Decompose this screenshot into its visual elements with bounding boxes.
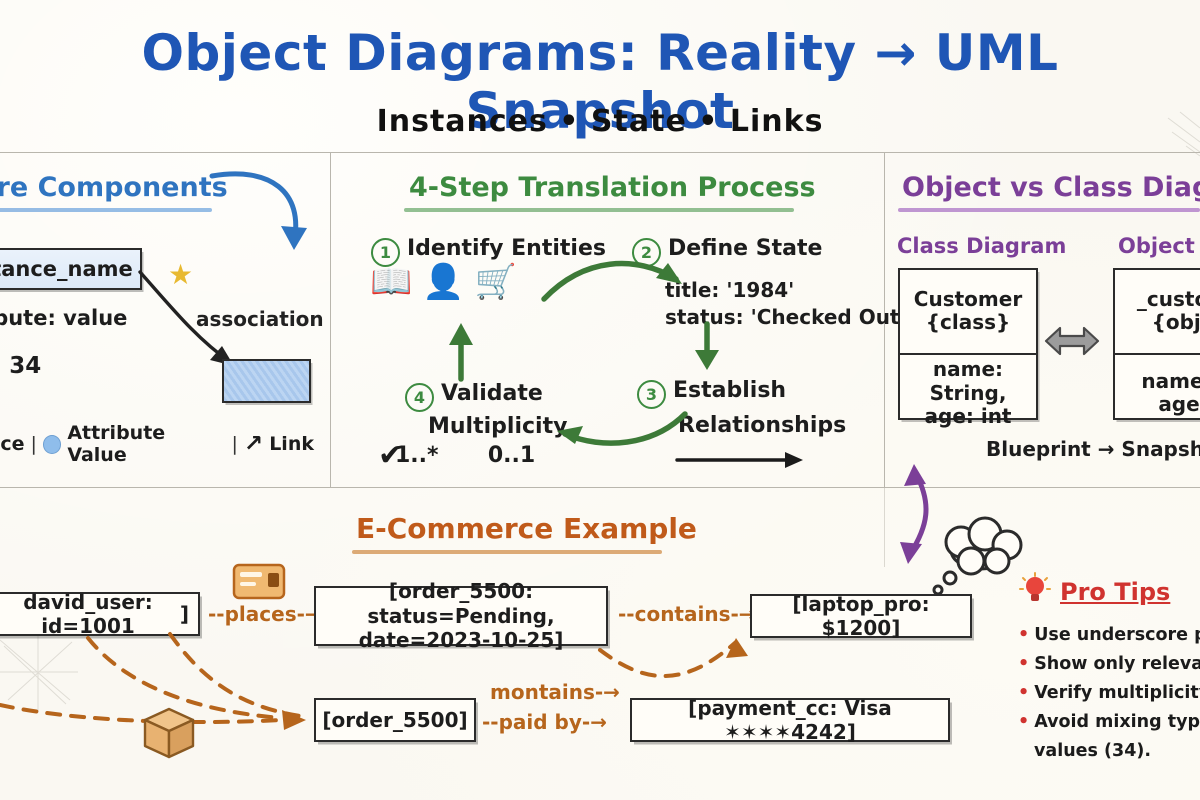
step-4: 4Validate: [405, 381, 543, 412]
linked-object-box: [222, 359, 311, 403]
step-4-number: 4: [405, 383, 434, 412]
process-title: 4-Step Translation Process: [409, 172, 816, 203]
class-box-stereotype: {class}: [926, 311, 1011, 335]
legend: ance | Attribute Value | ↗ Link: [0, 422, 314, 466]
attribute-value-dot-icon: [43, 435, 61, 454]
object-box-stereotype: {obje: [1152, 311, 1200, 335]
legend-link-label: Link: [269, 433, 314, 455]
object-box-name: _custom: [1137, 288, 1200, 312]
compare-underline: [898, 208, 1200, 212]
pro-tips-title: Pro Tips: [1060, 578, 1170, 606]
divider-top: [0, 152, 1200, 153]
class-diagram-heading: Class Diagram: [897, 234, 1066, 258]
object-box-attr-1: name: ': [1141, 370, 1200, 394]
link-arrow-icon: ↗: [244, 431, 263, 457]
legend-separator-1: |: [31, 433, 37, 455]
instance-name-box: tance_name: [0, 248, 142, 290]
blue-curved-arrow-icon: [208, 168, 318, 278]
class-diagram-box: Customer {class} name: String, age: int: [898, 268, 1038, 420]
class-box-attributes: name: String, age: int: [900, 355, 1036, 432]
divider-bottom-right: [884, 487, 885, 567]
shopping-cart-icon: 🛒: [475, 262, 527, 302]
object-box-attributes: name: ' age:: [1115, 355, 1200, 432]
core-components-title: ore Components: [0, 172, 228, 203]
age-line: : 34: [0, 353, 41, 379]
divider-left: [330, 152, 331, 487]
class-box-attr-2: age: int: [925, 405, 1012, 429]
credit-card-icon: [232, 562, 288, 602]
object-box-header: _custom {obje: [1115, 270, 1200, 355]
multiplicity-1: 1..*: [395, 443, 439, 468]
object-box-attr-2: age:: [1158, 393, 1200, 417]
process-underline: [404, 208, 794, 212]
lightbulb-icon: [1018, 572, 1052, 606]
blueprint-snapshot-label: Blueprint → Snapshot: [986, 437, 1200, 461]
legend-separator-2: |: [232, 433, 238, 455]
legend-attribute-value-label: Attribute Value: [67, 422, 225, 466]
core-components-underline: [0, 208, 212, 212]
object-diagram-heading: Object D: [1118, 234, 1200, 258]
pro-tip-4-cont: values (34).: [1034, 741, 1151, 761]
legend-instance-label: ance: [0, 433, 25, 455]
multiplicity-row: 1..* 0..1: [395, 443, 535, 468]
divider-middle: [0, 487, 1200, 488]
process-arrow-1-to-2-icon: [540, 255, 700, 315]
open-book-icon: 📖: [370, 262, 422, 302]
multiplicity-2: 0..1: [488, 443, 535, 468]
class-box-name: Customer: [914, 288, 1022, 312]
double-arrow-icon: [1044, 320, 1104, 366]
package-box-icon: [142, 706, 198, 762]
attribute-value-line: ibute: value: [0, 306, 127, 330]
person-icon: 👤: [422, 262, 474, 302]
class-box-attr-1: name: String,: [904, 358, 1032, 405]
class-box-header: Customer {class}: [900, 270, 1036, 355]
entity-icons-row: 📖👤🛒: [370, 262, 527, 302]
process-arrow-4-to-1-icon: [440, 315, 486, 385]
object-diagram-box: _custom {obje name: ' age:: [1113, 268, 1200, 420]
page-subtitle: Instances • State • Links: [0, 104, 1200, 139]
pro-tip-1: •Use underscore prefix: [1018, 625, 1200, 645]
process-arrow-3-to-4-icon: [535, 400, 695, 460]
step-3-label-2: Relationships: [678, 413, 846, 438]
ecommerce-underline: [352, 550, 662, 554]
process-arrow-2-to-3-icon: [690, 322, 736, 382]
pro-tip-2: •Show only relevant att: [1018, 654, 1200, 674]
pro-tip-3: •Verify multiplicity cons: [1018, 683, 1200, 703]
pro-tip-4: •Avoid mixing types (int: [1018, 712, 1200, 732]
relationship-arrow-icon: [675, 448, 815, 472]
compare-title: Object vs Class Diagr: [902, 172, 1200, 203]
ecommerce-title: E-Commerce Example: [356, 512, 697, 545]
